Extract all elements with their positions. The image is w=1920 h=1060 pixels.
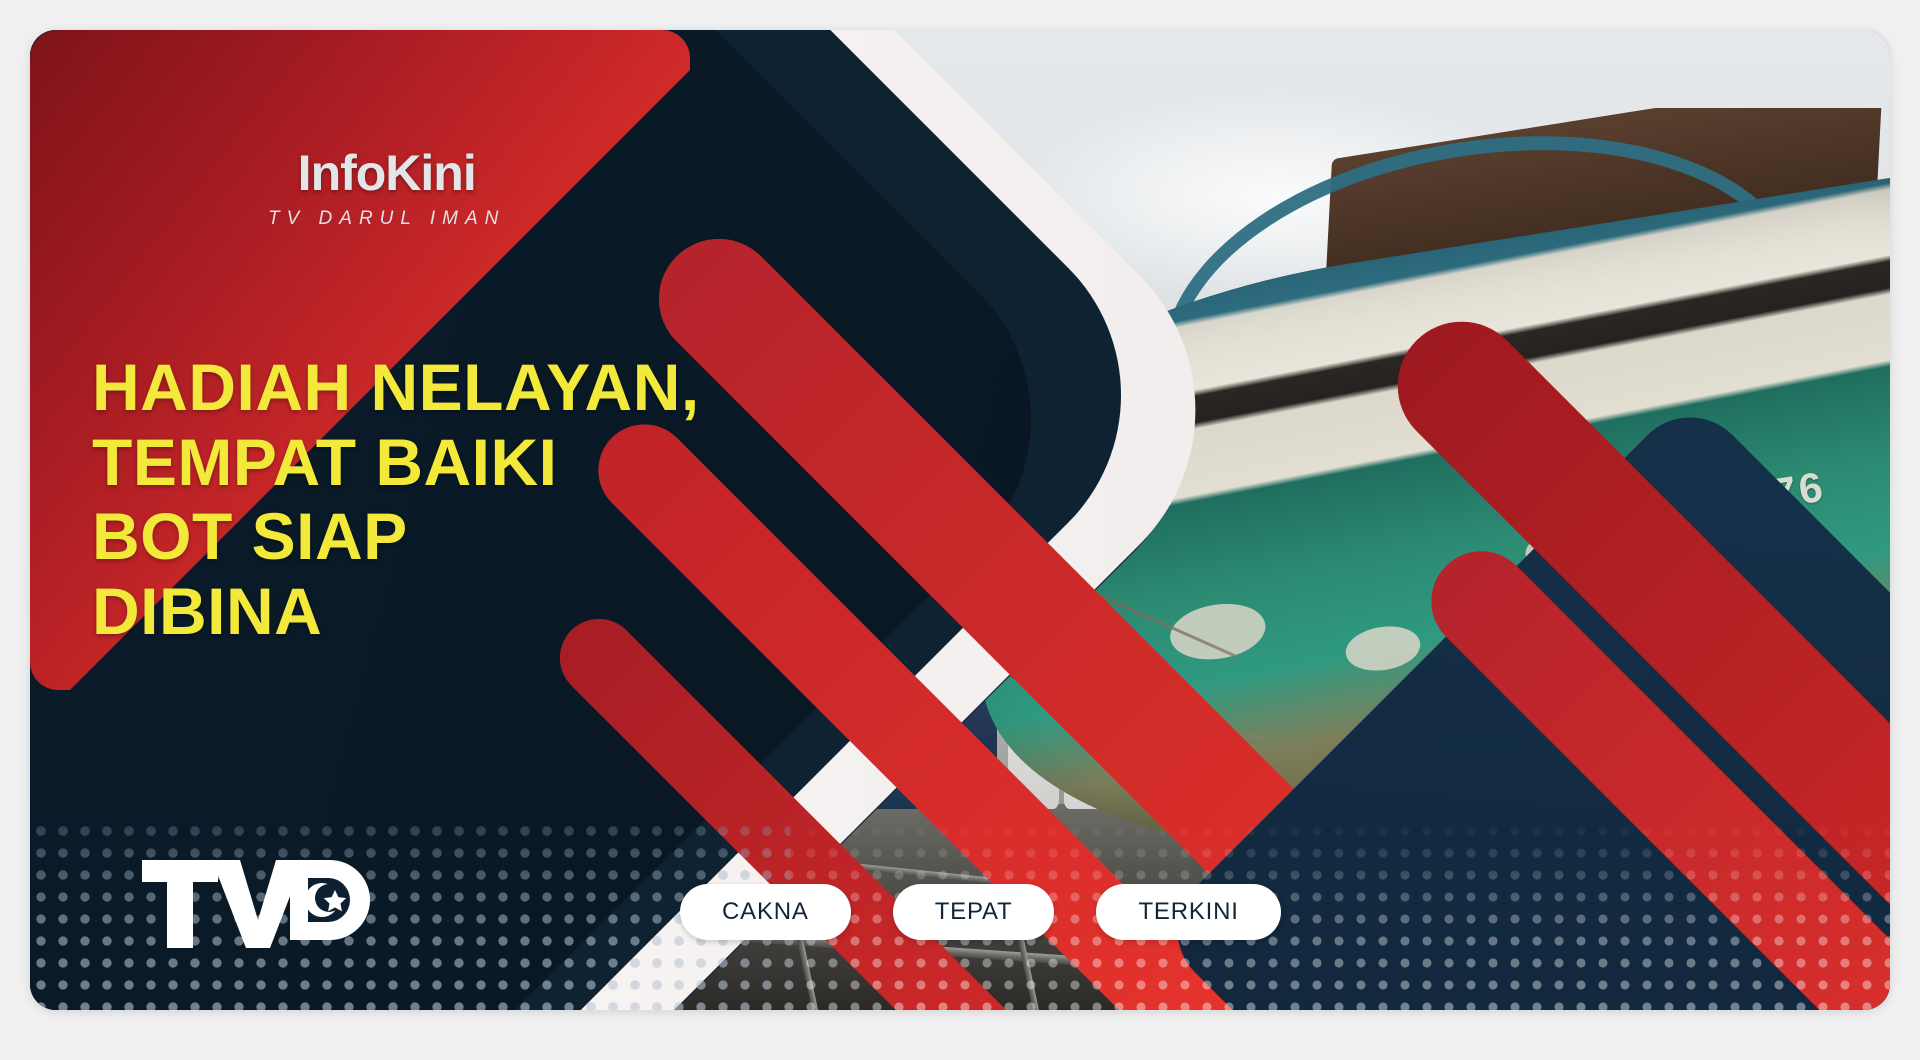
- brand-name: InfoKini: [268, 148, 505, 198]
- channel-brand: InfoKini TV DARUL IMAN: [268, 148, 505, 230]
- headline-line-3: BOT SIAP: [92, 499, 812, 574]
- tagline-pill-cakna[interactable]: CAKNA: [680, 884, 851, 940]
- tagline-pill-terkini[interactable]: TERKINI: [1096, 884, 1280, 940]
- tagline-pill-tepat[interactable]: TEPAT: [893, 884, 1055, 940]
- thumbnail-canvas: KNF 7976 InfoKini TV DARUL IMAN HADIAH N…: [30, 30, 1890, 1010]
- tagline-pill-group: CAKNA TEPAT TERKINI: [680, 884, 1281, 940]
- paint-chip: [1343, 622, 1424, 676]
- headline-line-4: DIBINA: [92, 574, 812, 649]
- brand-subtitle: TV DARUL IMAN: [268, 208, 505, 230]
- tvdi-logo: [140, 848, 370, 958]
- headline: HADIAH NELAYAN, TEMPAT BAIKI BOT SIAP DI…: [92, 350, 812, 648]
- headline-line-2: TEMPAT BAIKI: [92, 425, 812, 500]
- headline-line-1: HADIAH NELAYAN,: [92, 350, 812, 425]
